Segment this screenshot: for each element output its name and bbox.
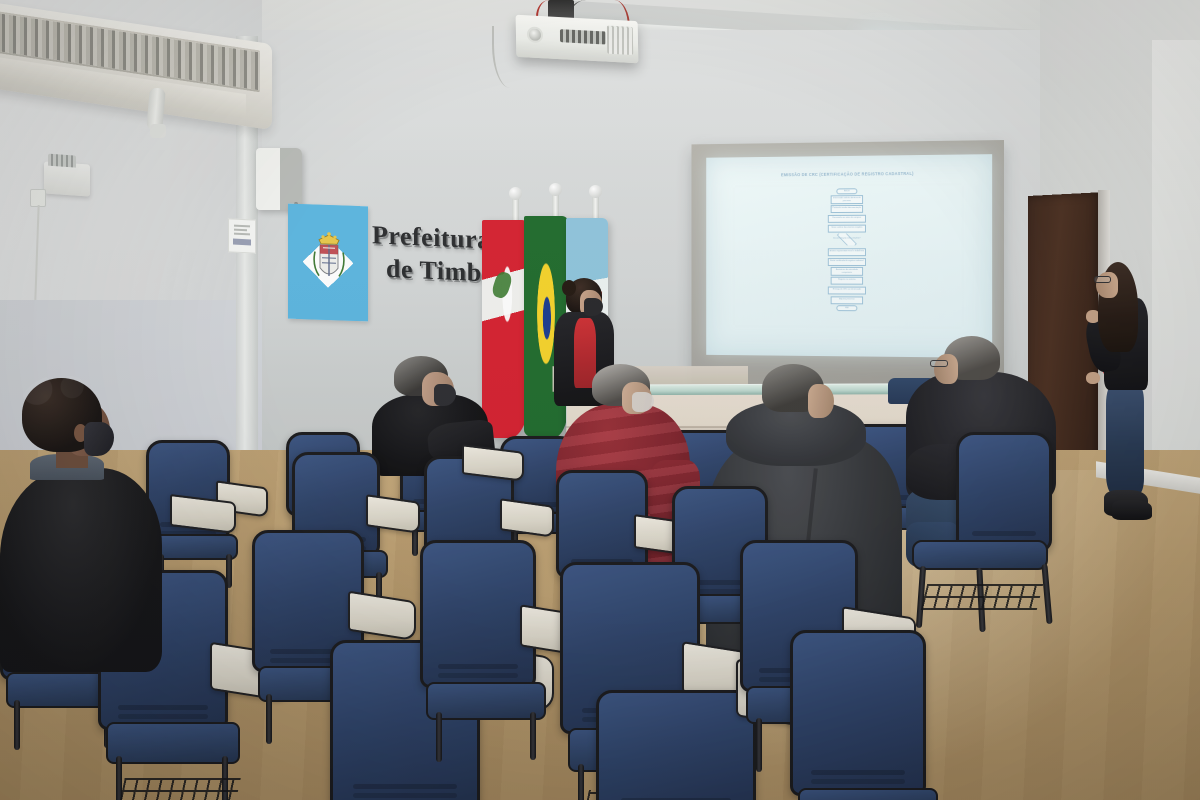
projector-ports: [560, 29, 606, 44]
chair-plain[interactable]: [904, 432, 1062, 610]
chair[interactable]: [462, 430, 558, 500]
flowchart-node: Setor confere documentos exigidos: [828, 224, 866, 232]
flowchart-node: Interessado solicita abertura de process…: [831, 196, 863, 204]
wall-sign-line-1: Prefeitura: [372, 219, 495, 257]
projection-screen-surface: EMISSÃO DE CRC (CERTIFICAÇÃO DE REGISTRO…: [706, 154, 992, 358]
person-presenter: [1086, 262, 1152, 542]
hand: [1086, 372, 1100, 384]
flag-santa-catarina: [512, 196, 519, 411]
wall-notice-sign: [228, 218, 256, 253]
jeans: [1106, 384, 1144, 494]
ceiling-projector: [516, 15, 639, 63]
flowchart-node: Registro no sistema: [831, 277, 863, 285]
emergency-light: [44, 161, 90, 196]
torso: [0, 468, 162, 672]
slide-title: EMISSÃO DE CRC (CERTIFICAÇÃO DE REGISTRO…: [706, 170, 992, 178]
flagpole-finial: [509, 187, 522, 200]
timbo-coat-of-arms-icon: [310, 227, 348, 290]
chair[interactable]: [790, 630, 960, 800]
flowchart-node: Entrega do CRC ao interessado: [828, 286, 866, 294]
chair[interactable]: [170, 488, 268, 552]
flowchart-node: Assinatura da autoridade competente: [831, 267, 863, 275]
eyeglasses-icon: [930, 360, 948, 367]
flowchart-node: Protocolo recebe documentação: [831, 205, 863, 213]
projector-lens-icon: [527, 26, 543, 43]
air-conditioner-pipe-end: [150, 124, 166, 138]
boot: [1112, 500, 1152, 520]
flowchart-decision-label: Documentação está completa?: [833, 235, 861, 240]
wall-sign-prefeitura: Prefeitura de Timbó: [372, 219, 495, 289]
person-front-left: [0, 372, 170, 672]
chair[interactable]: [420, 540, 566, 754]
flagpole-finial: [589, 185, 602, 198]
flowchart-node: Encaminha ao setor de compras: [828, 215, 866, 223]
eyeglasses-icon: [1094, 276, 1111, 283]
flowchart-node: Arquiva processo: [831, 296, 863, 304]
face-mask: [84, 422, 114, 456]
meeting-room-photo: Prefeitura de Timbó EMISSÃO DE CRC (CERT…: [0, 0, 1200, 800]
flowchart-node: Analisa regularidade fiscal e trabalhist…: [828, 248, 866, 256]
flowchart-decision-node: Documentação está completa? Notifica int…: [833, 234, 862, 246]
slide-flowchart: INÍCIO Interessado solicita abertura de …: [826, 188, 868, 313]
projector-vent: [607, 26, 633, 55]
flowchart-node: FIM: [836, 305, 857, 311]
face: [934, 354, 958, 384]
hair-bun: [562, 280, 576, 296]
face: [808, 384, 834, 418]
flowchart-node: Emite certificado de registro cadastral: [828, 258, 866, 266]
wall-speaker: [256, 148, 302, 210]
wall-sign-line-2: de Timbó: [372, 252, 495, 290]
flowchart-node: INÍCIO: [836, 188, 857, 194]
flagpole-finial: [549, 183, 562, 196]
